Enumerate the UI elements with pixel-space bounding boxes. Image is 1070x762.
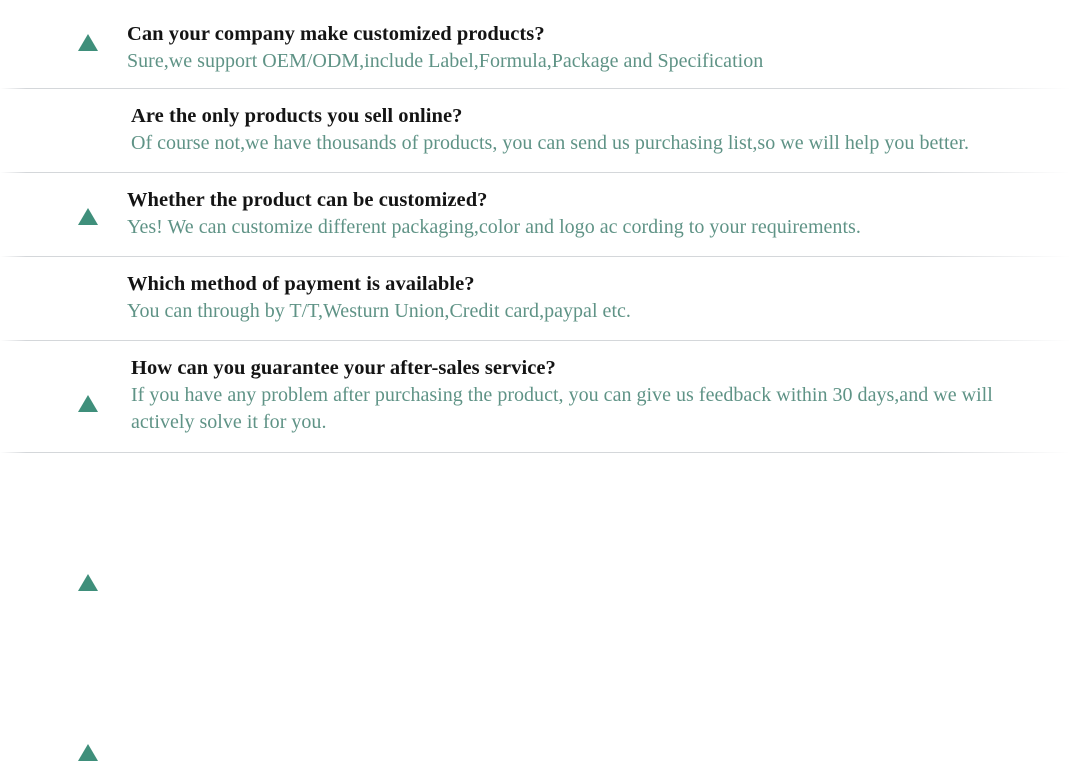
- faq-answer: Sure,we support OEM/ODM,include Label,Fo…: [127, 48, 1050, 75]
- triangle-up-icon: [78, 34, 99, 52]
- faq-answer: Of course not,we have thousands of produ…: [131, 130, 1050, 157]
- faq-item-body: Are the only products you sell online? O…: [78, 103, 1050, 157]
- spacer: [78, 325, 1050, 340]
- faq-item[interactable]: Are the only products you sell online? O…: [0, 89, 1070, 172]
- spacer: [78, 157, 1050, 172]
- faq-answer: You can through by T/T,Westurn Union,Cre…: [127, 298, 1050, 325]
- faq-question: Can your company make customized product…: [127, 21, 1050, 48]
- faq-answer: Yes! We can customize different packagin…: [127, 214, 1050, 241]
- faq-item-body: Which method of payment is available? Yo…: [78, 271, 1050, 325]
- faq-item[interactable]: Whether the product can be customized? Y…: [0, 173, 1070, 256]
- triangle-up-icon: [78, 744, 99, 762]
- faq-item-body: Whether the product can be customized? Y…: [78, 187, 1050, 241]
- faq-divider: [0, 452, 1070, 453]
- spacer: [78, 75, 1050, 88]
- spacer: [78, 241, 1050, 256]
- triangle-up-icon: [78, 574, 99, 592]
- faq-answer: If you have any problem after purchasing…: [131, 382, 1050, 436]
- faq-item-body: Can your company make customized product…: [78, 21, 1050, 75]
- faq-list: Can your company make customized product…: [0, 0, 1070, 529]
- spacer: [78, 436, 1050, 452]
- faq-question: Which method of payment is available?: [127, 271, 1050, 298]
- faq-item[interactable]: How can you guarantee your after-sales s…: [0, 341, 1070, 452]
- faq-question: How can you guarantee your after-sales s…: [131, 355, 1050, 382]
- faq-item[interactable]: Can your company make customized product…: [0, 0, 1070, 88]
- faq-item-body: How can you guarantee your after-sales s…: [78, 355, 1050, 436]
- faq-question: Are the only products you sell online?: [131, 103, 1050, 130]
- faq-item[interactable]: Which method of payment is available? Yo…: [0, 257, 1070, 340]
- faq-question: Whether the product can be customized?: [127, 187, 1050, 214]
